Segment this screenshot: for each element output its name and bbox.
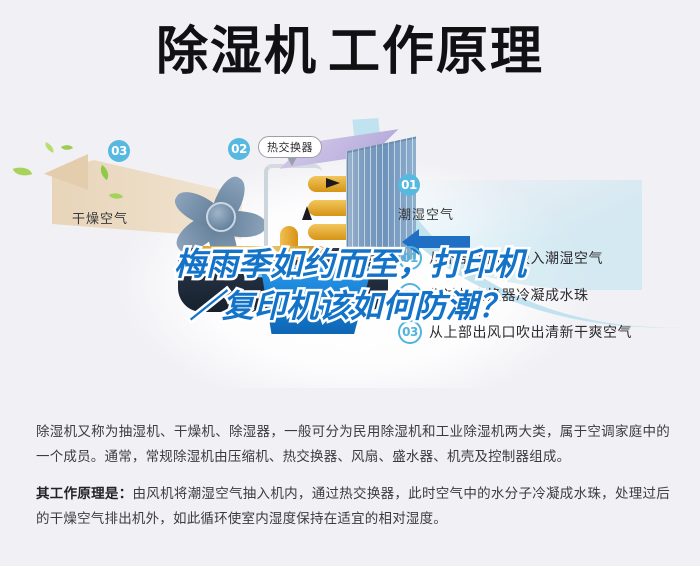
leaf-icon	[61, 142, 73, 153]
badge-03: 03	[108, 140, 130, 162]
leaf-icon	[43, 142, 56, 153]
flow-arrow-up-icon	[302, 206, 312, 220]
page-title-text: 除湿机工作原理	[156, 26, 544, 78]
step-badge-03: 03	[398, 320, 422, 344]
fan-hub	[206, 202, 236, 232]
diagram-step: 01 从下部进风口吸入潮湿空气	[398, 246, 698, 270]
title-part-2: 工作原理	[328, 22, 544, 82]
humid-air-label: 潮湿空气	[398, 204, 454, 223]
dehumidifier-diagram: 干燥空气	[0, 118, 700, 408]
article-paragraph-2-lead: 其工作原理是：	[36, 486, 133, 502]
title-part-1: 除湿机	[156, 22, 318, 82]
diagram-steps: 01 从下部进风口吸入潮湿空气 02 经过热交换器冷凝成水珠 03 从上部出风口…	[398, 246, 698, 357]
diagram-step: 03 从上部出风口吹出清新干爽空气	[398, 320, 698, 344]
article-paragraph-1: 除湿机又称为抽湿机、干燥机、除湿器，一般可分为民用除湿机和工业除湿机两大类，属于…	[36, 420, 670, 470]
step-text-02: 经过热交换器冷凝成水珠	[429, 285, 589, 305]
step-text-03: 从上部出风口吹出清新干爽空气	[429, 322, 632, 342]
page-root: 除湿机工作原理 干燥空气	[0, 0, 700, 566]
diagram-step: 02 经过热交换器冷凝成水珠	[398, 283, 698, 307]
water-tank-label: 水箱	[286, 294, 314, 313]
machine-casing-trim	[196, 246, 326, 260]
badge-01: 01	[398, 174, 420, 196]
step-text-01: 从下部进风口吸入潮湿空气	[429, 248, 603, 268]
page-title: 除湿机工作原理	[0, 26, 700, 78]
dry-air-label: 干燥空气	[72, 208, 128, 227]
badge-02: 02	[228, 138, 250, 160]
step-badge-01: 01	[398, 246, 422, 270]
heat-exchanger-callout: 热交换器	[258, 136, 322, 158]
leaf-icon	[13, 164, 33, 180]
step-badge-02: 02	[398, 283, 422, 307]
flow-arrow-right-icon	[326, 178, 340, 188]
article-body: 除湿机又称为抽湿机、干燥机、除湿器，一般可分为民用除湿机和工业除湿机两大类，属于…	[36, 420, 670, 544]
article-paragraph-2: 其工作原理是：由风机将潮湿空气抽入机内，通过热交换器，此时空气中的水分子冷凝成水…	[36, 482, 670, 532]
